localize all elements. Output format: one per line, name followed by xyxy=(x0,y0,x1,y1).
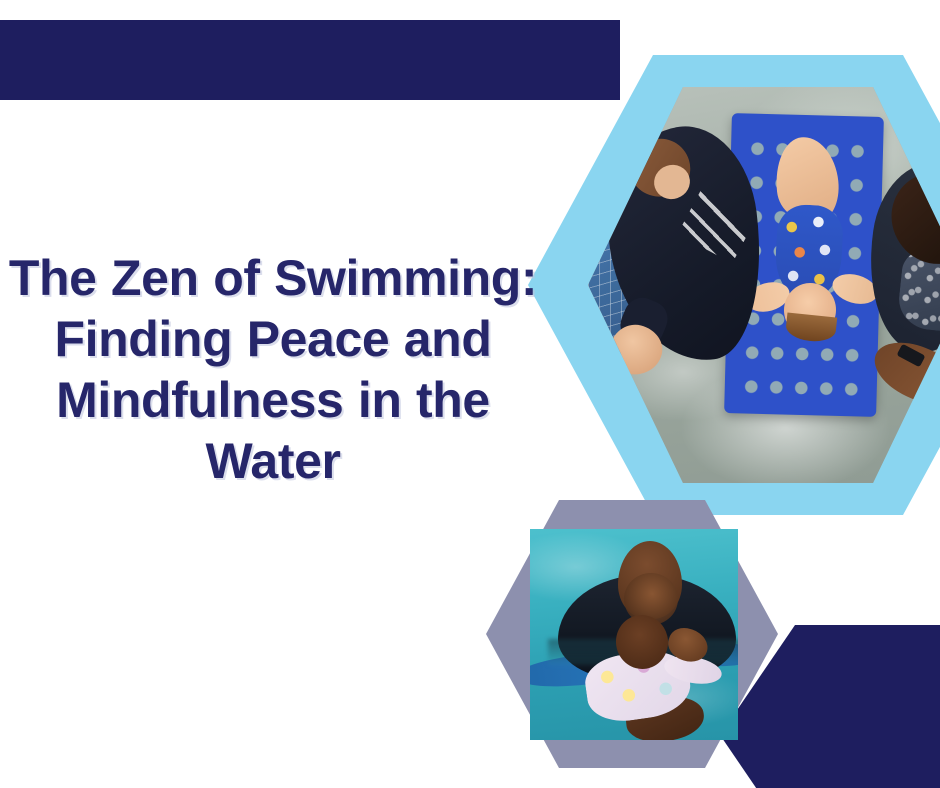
swim-lesson-photo-bottom xyxy=(530,529,738,740)
header-graphic-canvas: The Zen of Swimming: Finding Peace and M… xyxy=(0,0,940,788)
top-accent-bar xyxy=(0,20,620,100)
page-title: The Zen of Swimming: Finding Peace and M… xyxy=(8,248,538,492)
headline-block: The Zen of Swimming: Finding Peace and M… xyxy=(8,248,538,492)
